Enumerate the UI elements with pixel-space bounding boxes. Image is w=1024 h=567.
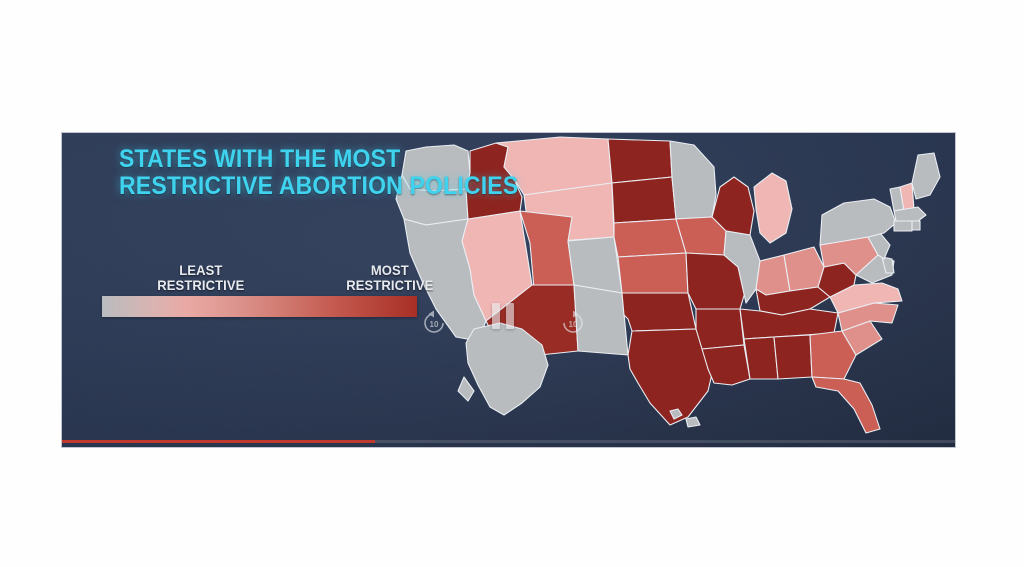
legend-labels: LEAST RESTRICTIVE MOST RESTRICTIVE [102,255,432,293]
state-OK [622,293,696,331]
legend-least-line-1: LEAST [157,263,244,278]
state-AL [774,335,812,379]
state-ND [608,139,672,183]
state-NE [614,219,686,257]
state-CO [568,237,622,293]
page-root: STATES WITH THE MOST RESTRICTIVE ABORTIO… [0,0,1024,567]
legend-most-line-1: MOST [347,263,434,278]
state-ME [912,153,940,199]
state-OH [784,247,824,291]
state-SD [612,177,676,223]
svg-text:10: 10 [569,320,578,329]
state-MN [670,141,716,219]
title-line-1: STATES WITH THE MOST [119,146,459,173]
pause-bar-left [492,303,500,329]
forward-10-icon: 10 [559,309,587,337]
state-RI [912,221,920,230]
state-KS [618,253,688,293]
legend-least-label: LEAST RESTRICTIVE [157,263,244,293]
video-progress-bar[interactable] [62,440,955,443]
pause-button[interactable] [492,303,514,329]
legend-most-line-2: RESTRICTIVE [347,278,434,293]
title-line-2: RESTRICTIVE ABORTION POLICIES [119,173,459,200]
legend-least-line-2: RESTRICTIVE [157,278,244,293]
pause-icon [492,303,514,329]
state-MS [744,337,778,379]
map-legend: LEAST RESTRICTIVE MOST RESTRICTIVE [102,255,432,317]
pause-bar-right [506,303,514,329]
video-player[interactable]: STATES WITH THE MOST RESTRICTIVE ABORTIO… [62,133,955,447]
rewind-10-icon: 10 [420,309,448,337]
svg-text:10: 10 [430,320,439,329]
legend-most-label: MOST RESTRICTIVE [347,263,434,293]
legend-gradient-bar [102,296,417,317]
forward-10-button[interactable]: 10 [559,309,587,337]
graphic-title: STATES WITH THE MOST RESTRICTIVE ABORTIO… [119,146,489,200]
rewind-10-button[interactable]: 10 [420,309,448,337]
state-AR [696,309,744,349]
state-CT [894,221,912,231]
state-MI [754,173,792,243]
state-FL [812,377,880,433]
video-progress-fill [62,440,375,443]
